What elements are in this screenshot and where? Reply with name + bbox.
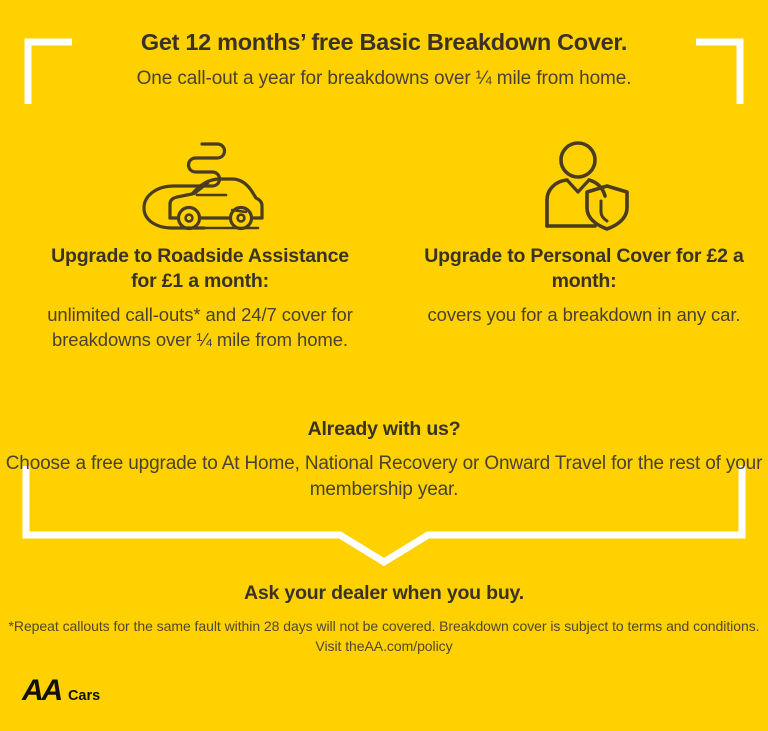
header: Get 12 months’ free Basic Breakdown Cove…	[0, 28, 768, 92]
already-title: Already with us?	[0, 418, 768, 441]
feature-columns: Upgrade to Roadside Assistance for £1 a …	[0, 134, 768, 352]
already-body: Choose a free upgrade to At Home, Nation…	[0, 451, 768, 503]
aa-logo-mark: AA	[22, 676, 61, 706]
feature-title: Upgrade to Roadside Assistance for £1 a …	[36, 244, 364, 294]
person-with-shield-icon	[424, 134, 744, 238]
disclaimer-text: *Repeat callouts for the same fault with…	[0, 616, 768, 657]
call-to-action: Ask your dealer when you buy.	[0, 582, 768, 605]
footer-section: Ask your dealer when you buy. *Repeat ca…	[0, 582, 768, 657]
aa-logo-wordmark: Cars	[68, 689, 100, 704]
page-subtitle: One call-out a year for breakdowns over …	[0, 67, 768, 92]
feature-body: unlimited call-outs* and 24/7 cover for …	[36, 303, 364, 353]
feature-roadside-assistance: Upgrade to Roadside Assistance for £1 a …	[0, 134, 400, 352]
aa-cars-logo: AA Cars	[22, 676, 100, 706]
feature-personal-cover: Upgrade to Personal Cover for £2 a month…	[400, 134, 768, 328]
car-with-road-icon	[36, 134, 364, 238]
promo-card: Get 12 months’ free Basic Breakdown Cove…	[0, 0, 768, 731]
feature-title: Upgrade to Personal Cover for £2 a month…	[424, 244, 744, 294]
feature-body: covers you for a breakdown in any car.	[424, 303, 744, 328]
already-with-us-section: Already with us? Choose a free upgrade t…	[0, 418, 768, 503]
page-title: Get 12 months’ free Basic Breakdown Cove…	[0, 28, 768, 57]
